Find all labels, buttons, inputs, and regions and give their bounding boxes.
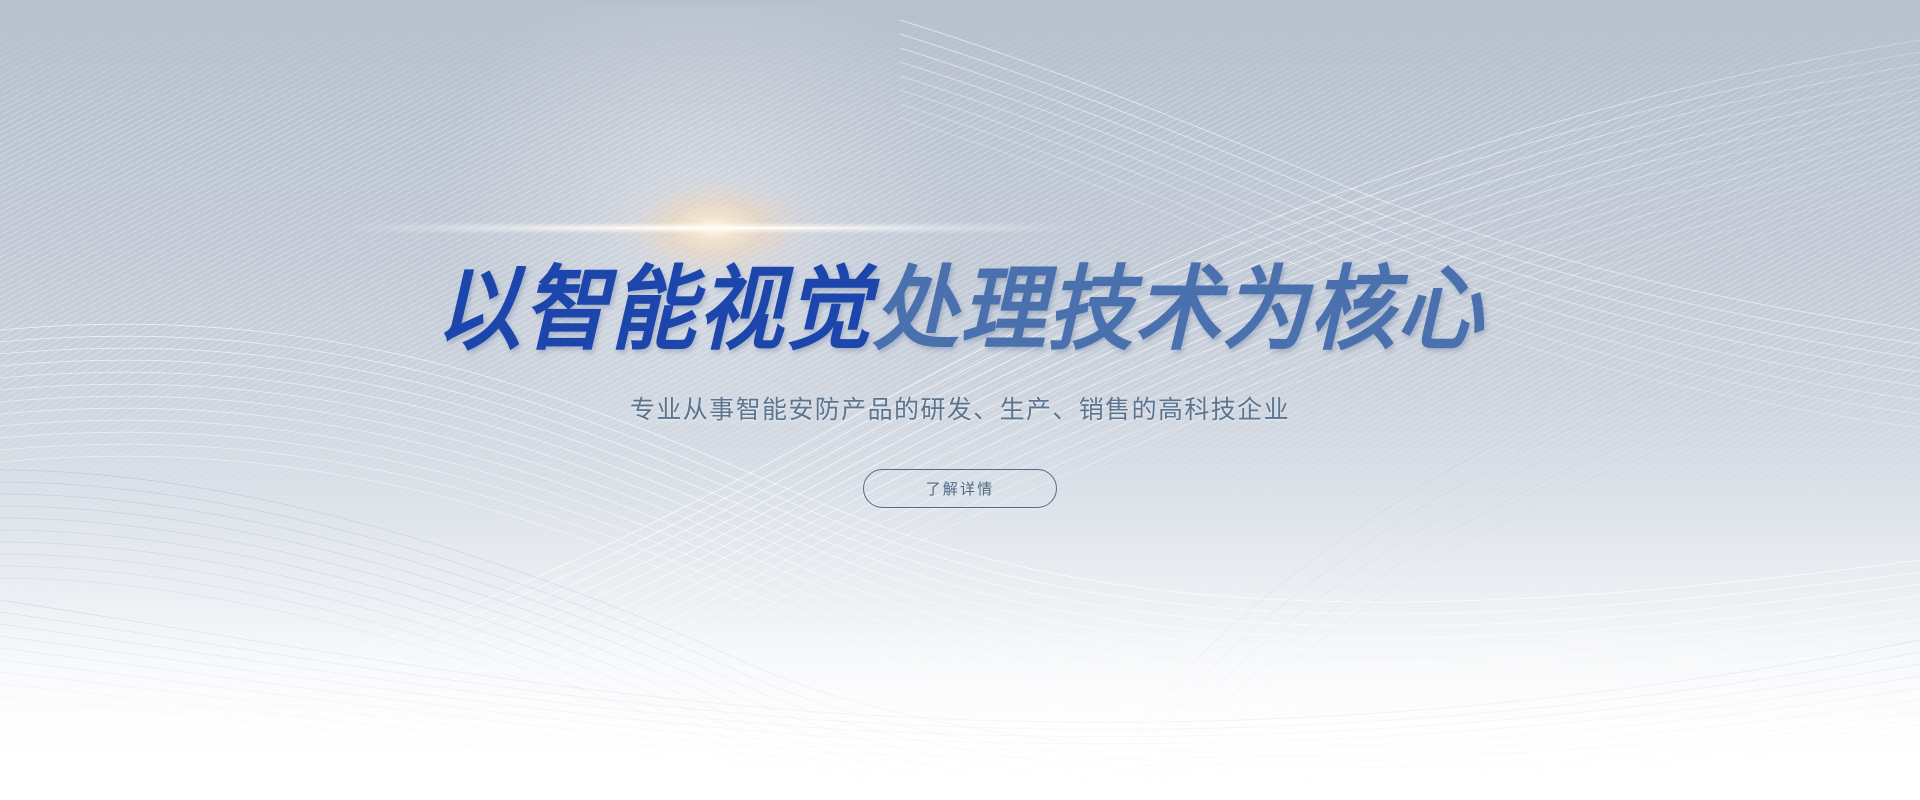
hero-content: 以智能视觉处理技术为核心 专业从事智能安防产品的研发、生产、销售的高科技企业 了…: [0, 0, 1920, 800]
headline-segment-secondary: 处理技术为核心: [873, 259, 1485, 361]
hero-subtitle: 专业从事智能安防产品的研发、生产、销售的高科技企业: [630, 390, 1290, 426]
headline-segment-primary: 以智能视觉: [435, 259, 872, 361]
lens-flare-streak: [335, 225, 1095, 232]
lens-flare-streak-highlight: [500, 227, 930, 229]
hero-banner: 以智能视觉处理技术为核心 专业从事智能安防产品的研发、生产、销售的高科技企业 了…: [0, 0, 1920, 800]
learn-more-button[interactable]: 了解详情: [863, 469, 1057, 508]
lens-flare-glow: [390, 5, 1010, 425]
hero-headline: 以智能视觉处理技术为核心: [435, 264, 1484, 356]
